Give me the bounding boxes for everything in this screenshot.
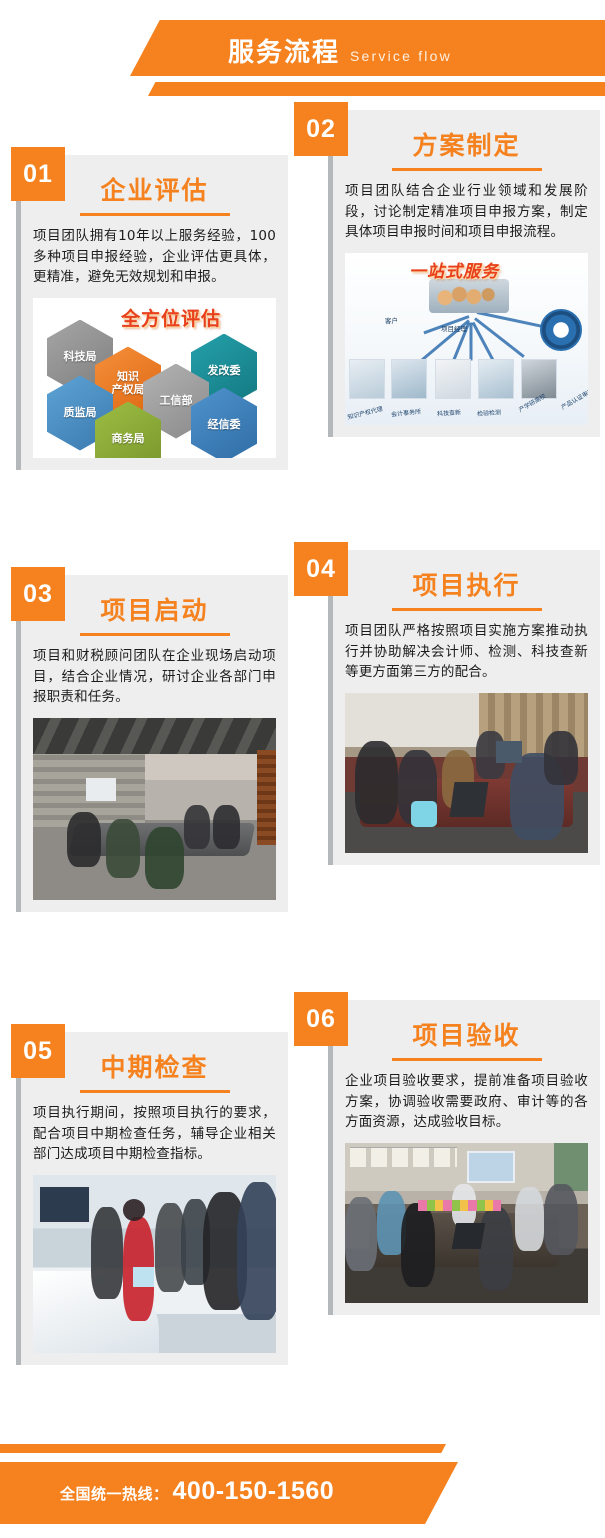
photo-whiteboard [86,778,115,802]
step-description-06: 企业项目验收要求，提前准备项目验收方案，协调验收需要政府、审计等的各方面资源，达… [345,1071,588,1133]
photo-midterm-inspection [33,1175,276,1353]
step-card-03[interactable]: 03 项目启动 项目和财税顾问团队在企业现场启动项目，结合企业情况，研讨企业各部… [16,575,288,912]
page-header: 服务流程 Service flow [0,0,605,108]
step-figure-02: 一站式服务 客户 项目经理 [345,253,588,425]
step-figure-01: 全方位评估 科技局 知识 产权局 发改委 质监局 工信部 [33,298,276,458]
step-card-body-05: 中期检查 项目执行期间，按照项目执行的要求，配合项目中期检查任务，辅导企业相关部… [16,1032,288,1365]
title-underline-06 [392,1058,542,1061]
page-footer: 全国统一热线： 400-150-1560 [0,1428,605,1538]
step-description-05: 项目执行期间，按照项目执行的要求，配合项目中期检查任务，辅导企业相关部门达成项目… [33,1103,276,1165]
photo-person [213,805,240,849]
hex-label: 经信委 [208,419,241,432]
photo-person [544,1184,578,1254]
photo-projector-screen [467,1151,516,1183]
title-underline-01 [80,213,230,216]
hex-label: 知识 产权局 [112,371,145,396]
step-card-body-06: 项目验收 企业项目验收要求，提前准备项目验收方案，协调验收需要政府、审计等的各方… [328,1000,600,1315]
certification-seal-icon: ISO [540,309,582,351]
hex-label: 商务局 [112,433,145,446]
photo-person [145,827,184,889]
service-thumb-accounting [391,359,427,399]
hex-label: 质监局 [64,407,97,420]
service-label-accounting: 会计事务所 [391,406,422,418]
step-card-04[interactable]: 04 项目执行 项目团队严格按照项目实施方案推动执行并协助解决会计师、检测、科技… [328,550,600,865]
page-title: 服务流程 [228,32,340,69]
step-figure-03 [33,718,276,900]
hex-label: 工信部 [160,395,193,408]
photo-person [515,1187,544,1251]
hex-label: 发改委 [208,365,241,378]
onestop-hub-photo [429,279,509,313]
photo-person-head [123,1199,145,1220]
service-label-certification: 产品认证审查 [559,385,588,411]
hex-label: 科技局 [64,351,97,364]
hotline-group: 全国统一热线： 400-150-1560 [60,1477,334,1506]
step-card-body-02: 方案制定 项目团队结合企业行业领域和发展阶段，讨论制定精准项目申报方案，制定具体… [328,110,600,437]
step-title-03: 项目启动 [33,585,276,631]
title-underline-02 [392,168,542,171]
onestop-node-customer: 客户 [385,315,398,325]
header-banner-accent [148,82,605,96]
step-number-badge-05: 05 [11,1024,65,1078]
photo-person [67,812,101,867]
onestop-caption: 一站式服务 [409,257,499,282]
step-figure-06 [345,1143,588,1303]
step-title-06: 项目验收 [345,1010,588,1056]
photo-person [237,1182,276,1321]
step-description-04: 项目团队严格按照项目实施方案推动执行并协助解决会计师、检测、科技查新等更方面第三… [345,621,588,683]
step-card-body-01: 企业评估 项目团队拥有10年以上服务经验，100多种项目申报经验，企业评估更具体… [16,155,288,470]
service-thumb-ip [349,359,385,399]
service-label-testing: 检验检测 [477,407,502,418]
step-card-05[interactable]: 05 中期检查 项目执行期间，按照项目执行的要求，配合项目中期检查任务，辅导企业… [16,1032,288,1365]
photo-certificate-frames [350,1147,457,1166]
step-card-body-03: 项目启动 项目和财税顾问团队在企业现场启动项目，结合企业情况，研讨企业各部门申报… [16,575,288,912]
photo-project-kickoff [33,718,276,900]
step-description-01: 项目团队拥有10年以上服务经验，100多种项目申报经验，企业评估更具体，更精准，… [33,226,276,288]
onestop-diagram: 一站式服务 客户 项目经理 [345,253,588,425]
photo-person [345,1197,377,1271]
service-thumb-testing [478,359,514,399]
photo-project-acceptance [345,1143,588,1303]
service-label-search: 科技查新 [437,407,462,418]
photo-person [184,805,211,849]
service-thumb-search [435,359,471,399]
step-title-02: 方案制定 [345,120,588,166]
photo-person [479,1207,513,1290]
title-underline-05 [80,1090,230,1093]
step-number-badge-06: 06 [294,992,348,1046]
photo-brochure [133,1267,155,1287]
page-subtitle: Service flow [350,48,452,64]
photo-wood-panel [257,750,276,845]
photo-person [401,1203,435,1286]
photo-laptop [449,782,488,817]
step-number-badge-01: 01 [11,147,65,201]
onestop-node-manager: 项目经理 [441,323,467,333]
photo-person [106,819,140,877]
photo-person [91,1207,123,1300]
step-card-06[interactable]: 06 项目验收 企业项目验收要求，提前准备项目验收方案，协调验收需要政府、审计等… [328,1000,600,1315]
step-title-04: 项目执行 [345,560,588,606]
step-number-badge-02: 02 [294,102,348,156]
step-number-badge-03: 03 [11,567,65,621]
photo-ceiling [33,718,276,754]
photo-laptop [452,1223,486,1249]
hotline-number[interactable]: 400-150-1560 [173,1477,335,1506]
header-title-group: 服务流程 Service flow [228,32,452,69]
photo-laptop [496,741,523,763]
step-description-02: 项目团队结合企业行业领域和发展阶段，讨论制定精准项目申报方案，制定具体项目申报时… [345,181,588,243]
photo-bag [411,801,438,827]
photo-display-screen [38,1185,91,1224]
photo-project-execution [345,693,588,853]
title-underline-04 [392,608,542,611]
arrow-icon [470,322,473,360]
footer-banner-accent [0,1444,446,1453]
step-card-body-04: 项目执行 项目团队严格按照项目实施方案推动执行并协助解决会计师、检测、科技查新等… [328,550,600,865]
step-description-03: 项目和财税顾问团队在企业现场启动项目，结合企业情况，研讨企业各部门申报职责和任务… [33,646,276,708]
step-number-badge-04: 04 [294,542,348,596]
hotline-label: 全国统一热线： [60,1483,169,1504]
hex-diagram-caption: 全方位评估 [121,304,221,331]
photo-person [544,731,578,785]
step-figure-05 [33,1175,276,1353]
service-label-ip: 知识产权代理 [346,403,383,420]
step-figure-04 [345,693,588,853]
photo-wall [345,693,479,747]
hex-diagram: 全方位评估 科技局 知识 产权局 发改委 质监局 工信部 [33,298,276,458]
infographic-page: 服务流程 Service flow 01 企业评估 项目团队拥有10年以上服务经… [0,0,605,1538]
title-underline-03 [80,633,230,636]
photo-person [355,741,399,824]
step-title-05: 中期检查 [33,1042,276,1088]
photo-flower-row [418,1200,501,1211]
step-title-01: 企业评估 [33,165,276,211]
step-card-01[interactable]: 01 企业评估 项目团队拥有10年以上服务经验，100多种项目申报经验，企业评估… [16,155,288,470]
step-card-02[interactable]: 02 方案制定 项目团队结合企业行业领域和发展阶段，讨论制定精准项目申报方案，制… [328,110,600,437]
